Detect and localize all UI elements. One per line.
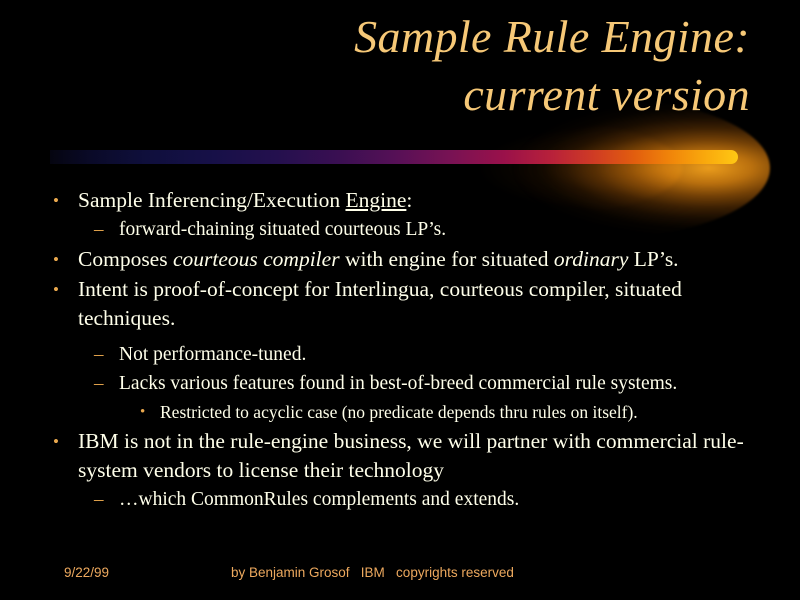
bullet-item-level-1: •Composes courteous compiler with engine… — [46, 245, 766, 274]
bullet-text: …which CommonRules complements and exten… — [119, 486, 766, 514]
dash-bullet-icon: – — [94, 486, 119, 514]
plain-text: : — [406, 188, 412, 212]
bullet-text: IBM is not in the rule-engine business, … — [78, 427, 766, 485]
bullet-item-level-1: •Intent is proof-of-concept for Interlin… — [46, 275, 766, 333]
slide-title: Sample Rule Engine: current version — [60, 8, 750, 124]
plain-text: forward-chaining situated courteous LP’s… — [119, 219, 446, 240]
plain-text: Composes — [78, 247, 173, 271]
plain-text: Lacks various features found in best-of-… — [119, 373, 677, 394]
plain-text: …which CommonRules complements and exten… — [119, 489, 519, 510]
spacer — [46, 334, 766, 341]
bullet-text: Lacks various features found in best-of-… — [119, 370, 766, 398]
dot-bullet-icon: • — [46, 186, 78, 215]
dot-bullet-icon: • — [46, 245, 78, 274]
bullet-text: forward-chaining situated courteous LP’s… — [119, 216, 766, 244]
bullet-text: Intent is proof-of-concept for Interling… — [78, 275, 766, 333]
dot-bullet-icon: • — [46, 275, 78, 304]
dot-bullet-icon: • — [46, 427, 78, 456]
footer-date: 9/22/99 — [64, 565, 109, 580]
plain-text: Not performance-tuned. — [119, 344, 306, 365]
bullet-text: Restricted to acyclic case (no predicate… — [160, 399, 766, 426]
bullet-text: Composes courteous compiler with engine … — [78, 245, 766, 274]
bullet-item-level-1: •Sample Inferencing/Execution Engine: — [46, 186, 766, 215]
dash-bullet-icon: – — [94, 370, 119, 398]
slide-body-content: •Sample Inferencing/Execution Engine:–fo… — [46, 186, 766, 515]
slide-footer: 9/22/99 by Benjamin Grosof IBM copyright… — [0, 563, 800, 589]
plain-text: with engine for situated — [340, 247, 554, 271]
bullet-item-level-2: –…which CommonRules complements and exte… — [46, 486, 766, 514]
bullet-item-level-2: –forward-chaining situated courteous LP’… — [46, 216, 766, 244]
plain-text: IBM is not in the rule-engine business, … — [78, 429, 744, 482]
underlined-text: Engine — [345, 188, 406, 212]
gradient-divider-bar — [50, 150, 738, 164]
bullet-item-level-2: –Not performance-tuned. — [46, 341, 766, 369]
bullet-text: Not performance-tuned. — [119, 341, 766, 369]
emphasis-text: ordinary — [554, 247, 628, 271]
emphasis-text: courteous compiler — [173, 247, 340, 271]
slide-title-line-2: current version — [60, 66, 750, 124]
slide-title-line-1: Sample Rule Engine: — [60, 8, 750, 66]
plain-text: Restricted to acyclic case (no predicate… — [160, 402, 638, 422]
plain-text: Sample Inferencing/Execution — [78, 188, 345, 212]
dot-bullet-icon: • — [140, 399, 160, 426]
bullet-item-level-3: •Restricted to acyclic case (no predicat… — [46, 399, 766, 426]
presentation-slide: Sample Rule Engine: current version •Sam… — [0, 0, 800, 600]
dash-bullet-icon: – — [94, 216, 119, 244]
plain-text: LP’s. — [628, 247, 678, 271]
bullet-item-level-1: •IBM is not in the rule-engine business,… — [46, 427, 766, 485]
bullet-text: Sample Inferencing/Execution Engine: — [78, 186, 766, 215]
footer-credit: by Benjamin Grosof IBM copyrights reserv… — [231, 565, 514, 580]
plain-text: Intent is proof-of-concept for Interling… — [78, 277, 682, 330]
bullet-item-level-2: –Lacks various features found in best-of… — [46, 370, 766, 398]
dash-bullet-icon: – — [94, 341, 119, 369]
